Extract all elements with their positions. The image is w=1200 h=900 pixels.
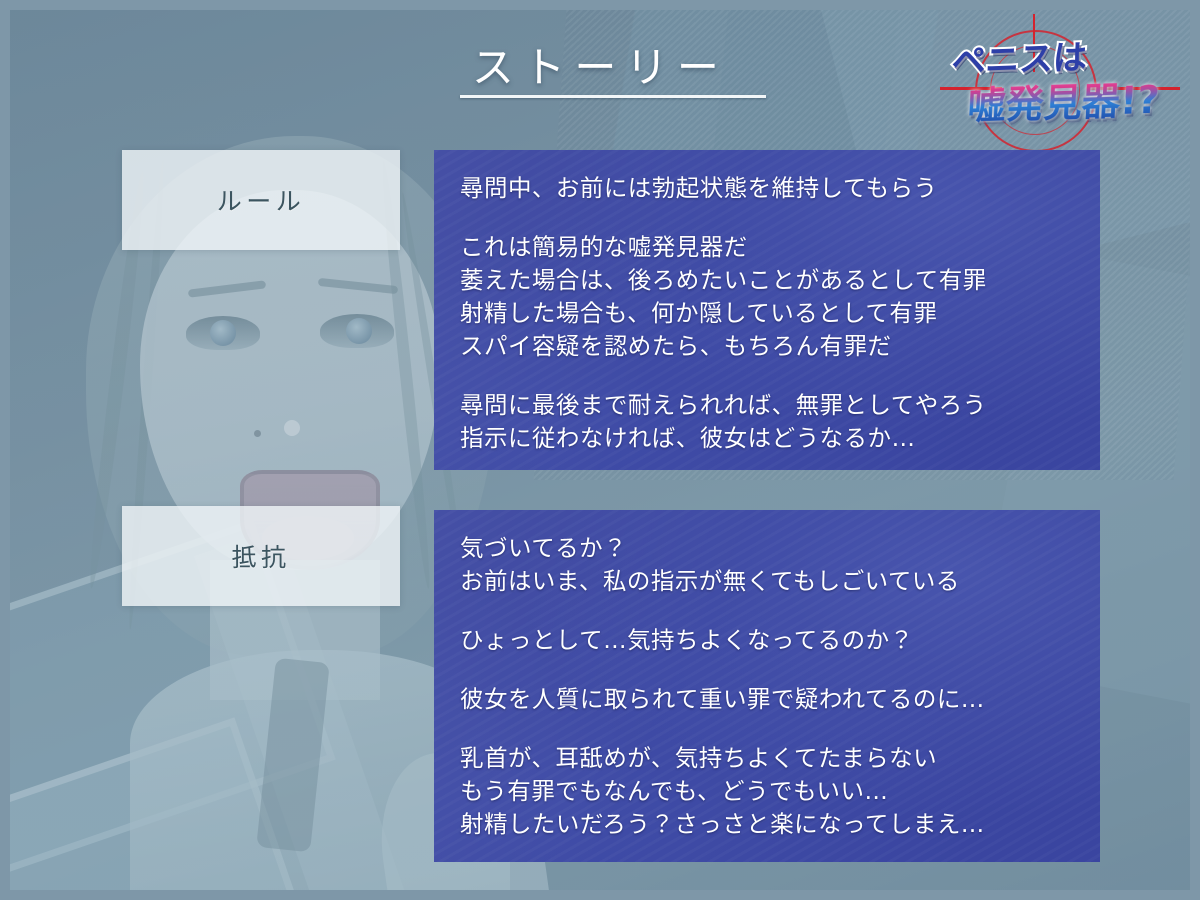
story-line: 乳首が、耳舐めが、気持ちよくてたまらない (460, 742, 1074, 775)
story-line: ひょっとして…気持ちよくなってるのか？ (460, 624, 1074, 657)
logo-line-2: 嘘発見器!? (966, 69, 1161, 131)
paragraph-spacer (460, 657, 1074, 683)
story-panel-rule-body: 尋問中、お前には勃起状態を維持してもらう これは簡易的な嘘発見器だ 萎えた場合は… (460, 172, 1074, 455)
section-label-resistance-text: 抵抗 (231, 538, 290, 574)
story-line: 射精した場合も、何か隠しているとして有罪 (460, 297, 1074, 330)
story-line: お前はいま、私の指示が無くてもしごいている (460, 565, 1074, 598)
paragraph-spacer (460, 205, 1074, 231)
game-logo: ペニスは 嘘発見器!? 嘘発見器!? (940, 14, 1190, 134)
paragraph-spacer (460, 363, 1074, 389)
story-line: もう有罪でもなんでも、どうでもいい… (460, 775, 1074, 808)
story-line: 尋問中、お前には勃起状態を維持してもらう (460, 172, 1074, 205)
title-underline (460, 95, 766, 98)
story-line: 萎えた場合は、後ろめたいことがあるとして有罪 (460, 264, 1074, 297)
story-line: 射精したいだろう？さっさと楽になってしまえ… (460, 808, 1074, 841)
story-line: これは簡易的な嘘発見器だ (460, 231, 1074, 264)
section-label-rule: ルール (122, 150, 400, 250)
story-line: 彼女を人質に取られて重い罪で疑われてるのに… (460, 683, 1074, 716)
story-line: 指示に従わなければ、彼女はどうなるか… (460, 422, 1074, 455)
section-label-resistance: 抵抗 (122, 506, 400, 606)
story-panel-rule: 尋問中、お前には勃起状態を維持してもらう これは簡易的な嘘発見器だ 萎えた場合は… (434, 150, 1100, 470)
story-line: 尋問に最後まで耐えられれば、無罪としてやろう (460, 389, 1074, 422)
story-panel-resistance-body: 気づいてるか？ お前はいま、私の指示が無くてもしごいている ひょっとして…気持ち… (460, 532, 1074, 841)
paragraph-spacer (460, 598, 1074, 624)
section-label-rule-text: ルール (217, 182, 306, 218)
story-page: ストーリー ペニスは 嘘発見器!? 嘘発見器!? ルール 尋問中、お前には勃起状… (0, 0, 1200, 900)
story-line: 気づいてるか？ (460, 532, 1074, 565)
paragraph-spacer (460, 716, 1074, 742)
story-panel-resistance: 気づいてるか？ お前はいま、私の指示が無くてもしごいている ひょっとして…気持ち… (434, 510, 1100, 862)
story-line: スパイ容疑を認めたら、もちろん有罪だ (460, 330, 1074, 363)
